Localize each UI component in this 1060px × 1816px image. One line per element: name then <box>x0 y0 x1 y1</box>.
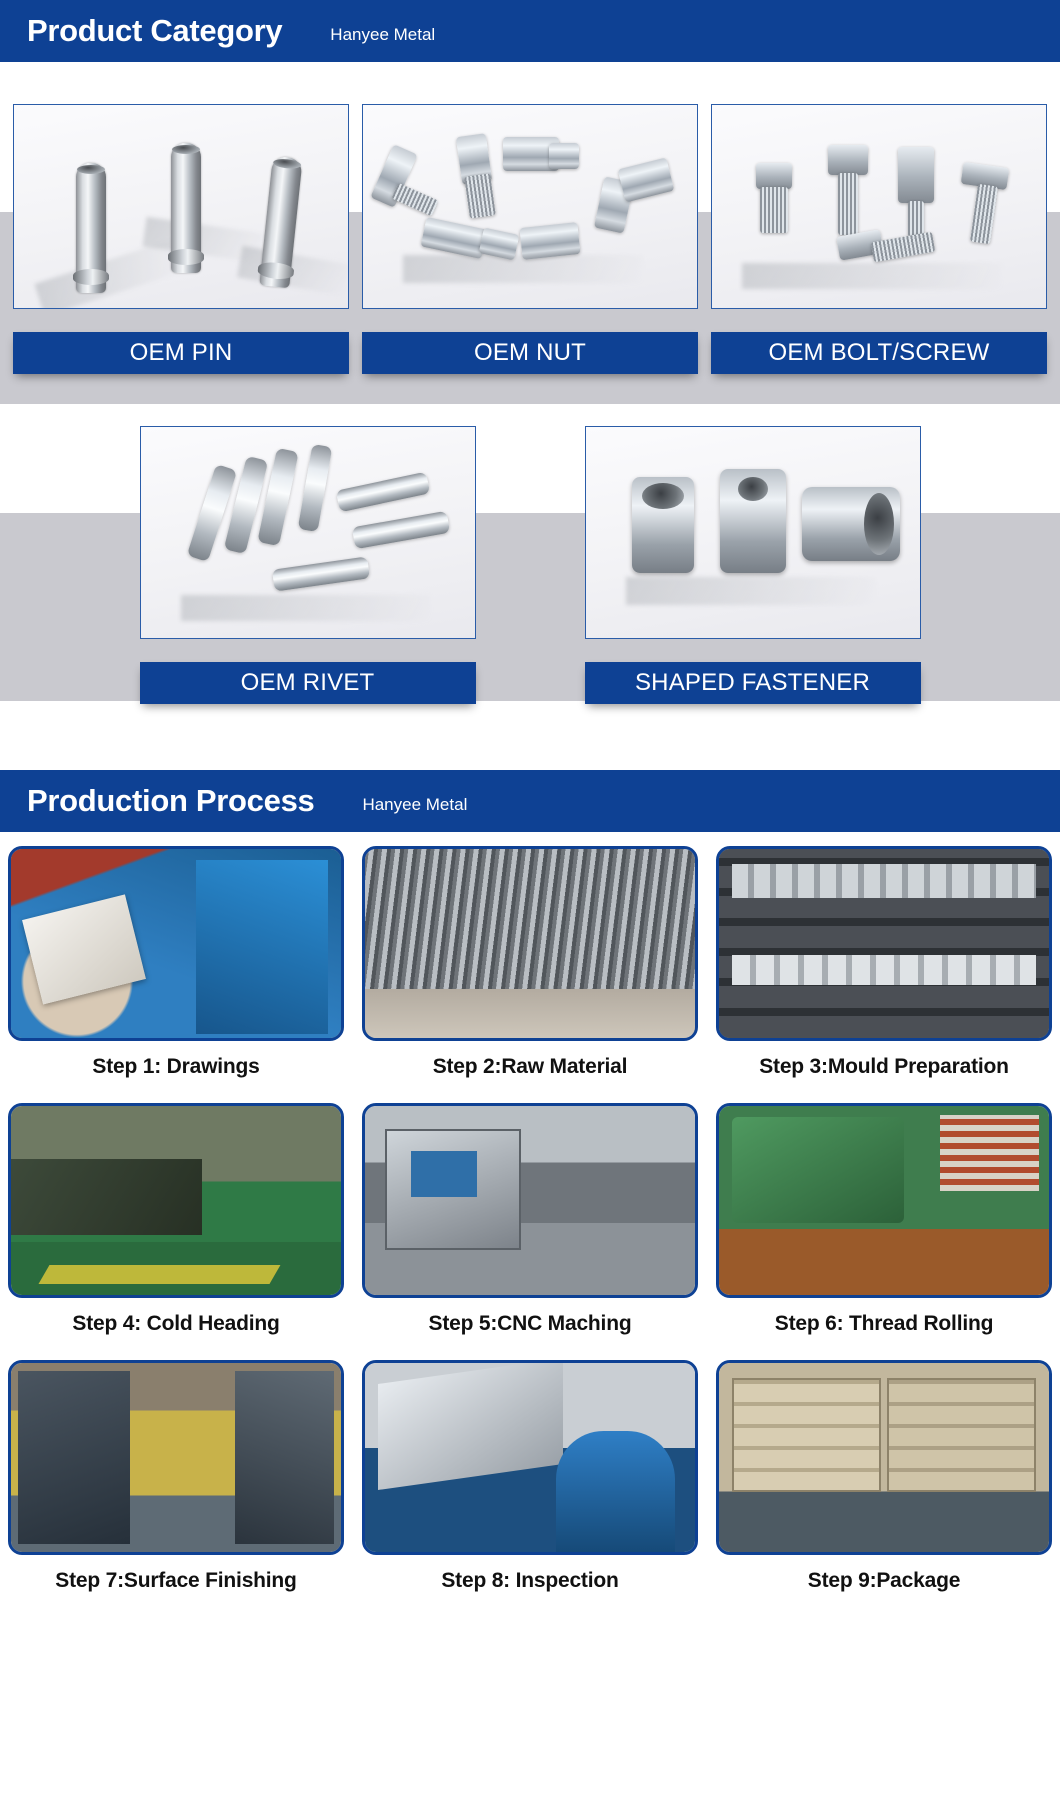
package-photo <box>716 1360 1052 1555</box>
surface-finishing-photo <box>8 1360 344 1555</box>
cnc-machining-photo <box>362 1103 698 1298</box>
category-label: OEM BOLT/SCREW <box>711 332 1047 374</box>
step-caption: Step 6: Thread Rolling <box>716 1298 1052 1352</box>
category-row-2: OEM RIVET SHAPED FASTENER <box>0 374 1060 704</box>
process-step-9[interactable]: Step 9:Package <box>716 1360 1052 1609</box>
process-steps-grid: Step 1: Drawings Step 2:Raw Material Ste… <box>0 846 1060 1609</box>
rivet-photo <box>140 426 476 639</box>
category-label: SHAPED FASTENER <box>585 662 921 704</box>
category-label: OEM NUT <box>362 332 698 374</box>
process-step-4[interactable]: Step 4: Cold Heading <box>8 1103 344 1352</box>
step-caption: Step 1: Drawings <box>8 1041 344 1095</box>
process-step-7[interactable]: Step 7:Surface Finishing <box>8 1360 344 1609</box>
category-card-oem-bolt-screw[interactable]: OEM BOLT/SCREW <box>711 104 1047 374</box>
cold-heading-photo <box>8 1103 344 1298</box>
bolt-screw-photo <box>711 104 1047 309</box>
step-caption: Step 3:Mould Preparation <box>716 1041 1052 1095</box>
product-category-section: OEM PIN OEM NUT <box>0 62 1060 704</box>
category-label: OEM RIVET <box>140 662 476 704</box>
production-process-section: Step 1: Drawings Step 2:Raw Material Ste… <box>0 846 1060 1609</box>
step-caption: Step 4: Cold Heading <box>8 1298 344 1352</box>
process-step-8[interactable]: Step 8: Inspection <box>362 1360 698 1609</box>
process-step-5[interactable]: Step 5:CNC Maching <box>362 1103 698 1352</box>
step-caption: Step 8: Inspection <box>362 1555 698 1609</box>
category-card-oem-pin[interactable]: OEM PIN <box>13 104 349 374</box>
category-label: OEM PIN <box>13 332 349 374</box>
pin-photo <box>13 104 349 309</box>
nut-photo <box>362 104 698 309</box>
process-step-3[interactable]: Step 3:Mould Preparation <box>716 846 1052 1095</box>
category-card-oem-nut[interactable]: OEM NUT <box>362 104 698 374</box>
production-process-banner: Production Process Hanyee Metal <box>0 770 1060 832</box>
process-step-6[interactable]: Step 6: Thread Rolling <box>716 1103 1052 1352</box>
mould-preparation-photo <box>716 846 1052 1041</box>
product-category-banner: Product Category Hanyee Metal <box>0 0 1060 62</box>
category-row-1: OEM PIN OEM NUT <box>0 62 1060 374</box>
brand-label: Hanyee Metal <box>362 787 467 815</box>
step-caption: Step 7:Surface Finishing <box>8 1555 344 1609</box>
step-caption: Step 9:Package <box>716 1555 1052 1609</box>
drawings-photo <box>8 846 344 1041</box>
step-caption: Step 5:CNC Maching <box>362 1298 698 1352</box>
page-title: Product Category <box>27 13 282 49</box>
inspection-photo <box>362 1360 698 1555</box>
category-card-oem-rivet[interactable]: OEM RIVET <box>140 426 476 704</box>
section-title: Production Process <box>27 783 314 819</box>
process-step-1[interactable]: Step 1: Drawings <box>8 846 344 1095</box>
thread-rolling-photo <box>716 1103 1052 1298</box>
raw-material-photo <box>362 846 698 1041</box>
brand-label: Hanyee Metal <box>330 17 435 45</box>
category-card-shaped-fastener[interactable]: SHAPED FASTENER <box>585 426 921 704</box>
shaped-fastener-photo <box>585 426 921 639</box>
section-spacer <box>0 704 1060 770</box>
step-caption: Step 2:Raw Material <box>362 1041 698 1095</box>
process-step-2[interactable]: Step 2:Raw Material <box>362 846 698 1095</box>
